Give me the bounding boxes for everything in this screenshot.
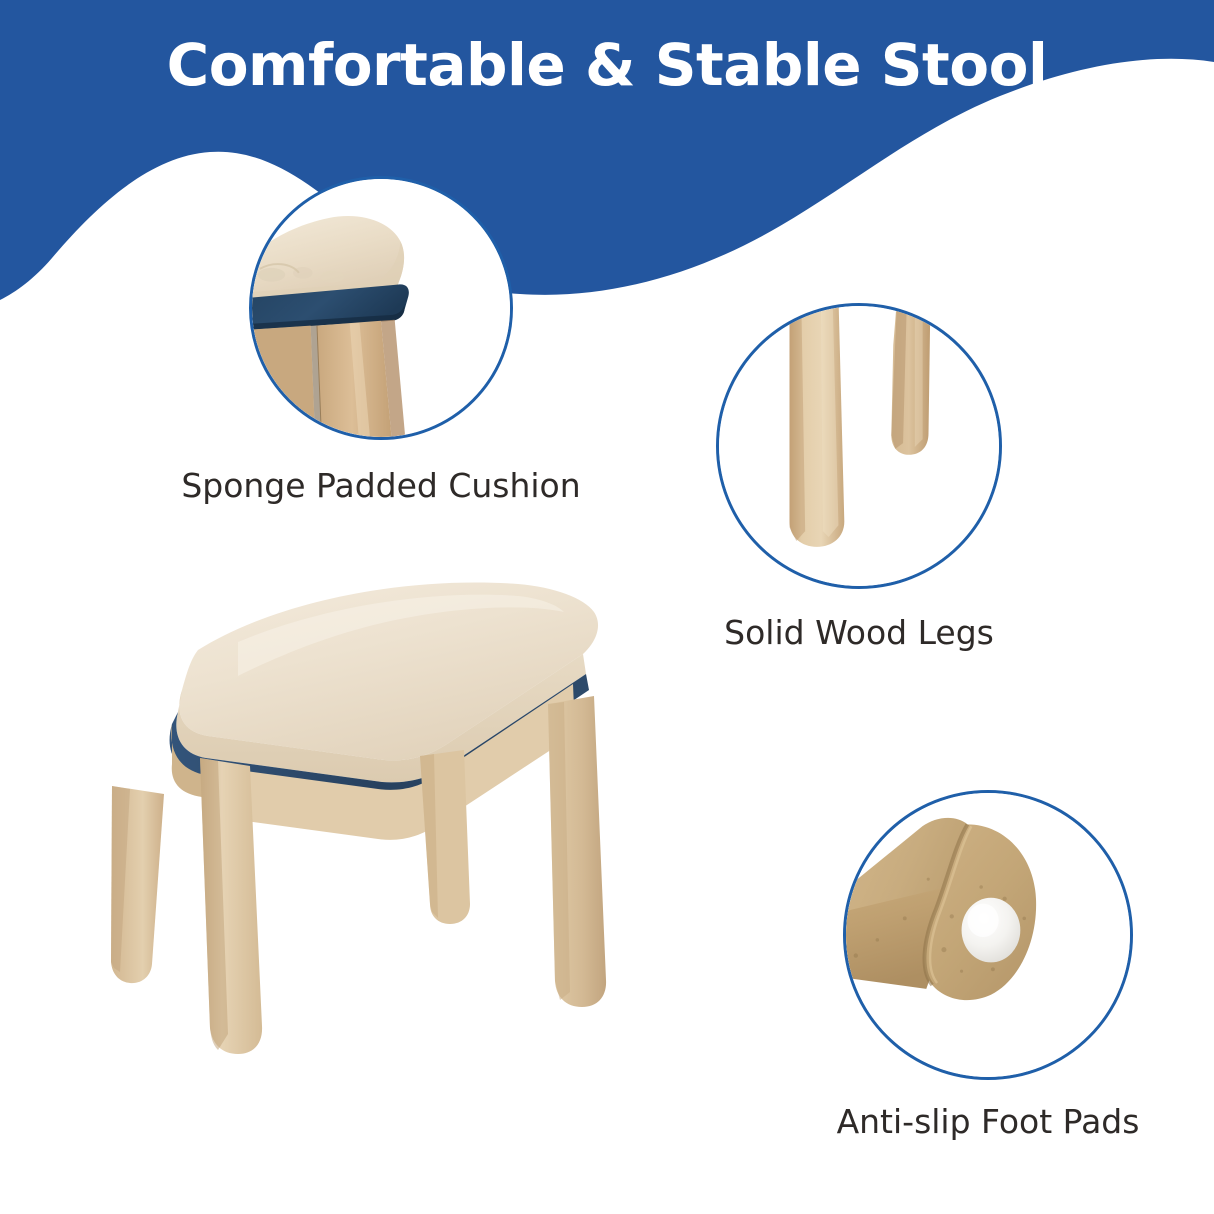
callout-label-cushion: Sponge Padded Cushion bbox=[139, 466, 623, 505]
callout-ring-legs bbox=[716, 303, 1002, 589]
leg-right-highlight bbox=[915, 306, 923, 447]
callout-label-pads: Anti-slip Foot Pads bbox=[763, 1102, 1213, 1141]
frame-left-block bbox=[252, 326, 317, 437]
callout-solid-wood-legs[interactable]: Solid Wood Legs bbox=[716, 303, 1002, 589]
callout-anti-slip-foot-pads[interactable]: Anti-slip Foot Pads bbox=[843, 790, 1133, 1080]
callout-ring-pads bbox=[843, 790, 1133, 1080]
foot-pad-closeup-photo bbox=[846, 793, 1130, 1077]
stool-illustration bbox=[78, 556, 658, 1176]
cushion-closeup-illustration bbox=[252, 179, 510, 437]
legs-closeup-illustration bbox=[719, 306, 999, 586]
callout-ring-cushion bbox=[249, 176, 513, 440]
callout-label-legs: Solid Wood Legs bbox=[656, 613, 1062, 652]
page-title: Comfortable & Stable Stool bbox=[0, 36, 1214, 94]
callout-sponge-padded-cushion[interactable]: Sponge Padded Cushion bbox=[249, 176, 513, 440]
pad-highlight bbox=[967, 904, 998, 937]
foot-pad-closeup-illustration bbox=[846, 793, 1130, 1077]
product-infographic: Comfortable & Stable Stool bbox=[0, 0, 1214, 1214]
legs-closeup-photo bbox=[719, 306, 999, 586]
cushion-closeup-photo bbox=[252, 179, 510, 437]
main-product-image bbox=[78, 556, 658, 1176]
